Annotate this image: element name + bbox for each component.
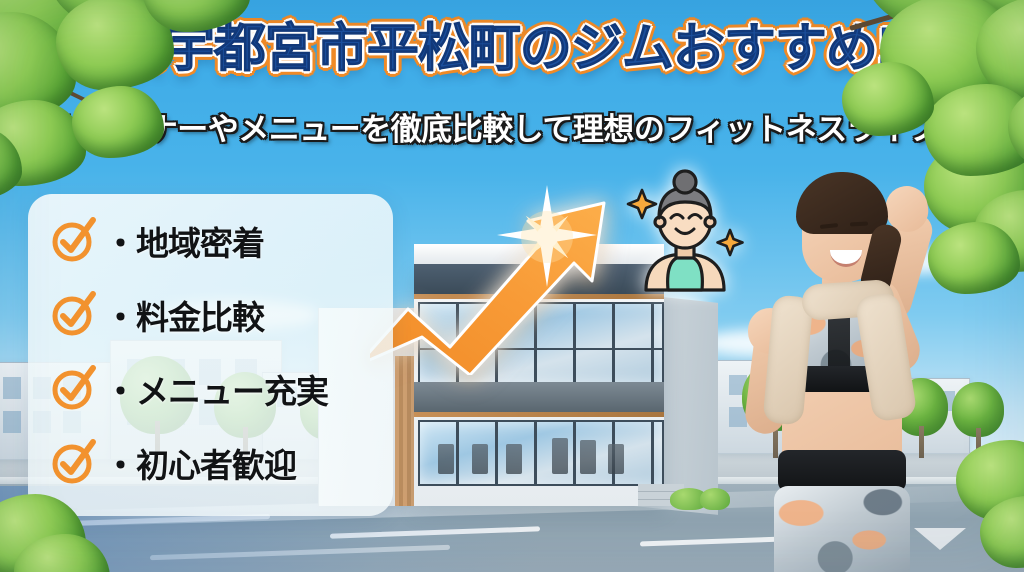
list-item-bullet: ・ bbox=[104, 365, 136, 413]
sparkle-star-icon bbox=[492, 182, 602, 292]
list-item-bullet: ・ bbox=[104, 439, 136, 487]
shrub bbox=[700, 488, 730, 510]
list-item: ・ メニュー充実 bbox=[28, 352, 393, 426]
building-glass-lower bbox=[418, 420, 664, 486]
page-subtitle: トレーナーやメニューを徹底比較して理想のフィットネスライフへ bbox=[55, 104, 968, 149]
check-circle-icon bbox=[50, 440, 96, 486]
check-circle-icon bbox=[50, 218, 96, 264]
list-item-label: 地域密着 bbox=[136, 217, 264, 265]
list-item: ・ 初心者歓迎 bbox=[28, 426, 393, 500]
list-item: ・ 料金比較 bbox=[28, 278, 393, 352]
list-item-label: 初心者歓迎 bbox=[136, 439, 296, 487]
check-circle-icon bbox=[50, 292, 96, 338]
list-item-label: 料金比較 bbox=[136, 291, 264, 339]
list-item-label: メニュー充実 bbox=[136, 365, 328, 413]
building-wood-trim bbox=[414, 412, 664, 417]
page-title: 栃木県宇都宮市平松町のジムおすすめ5選！ bbox=[10, 22, 1014, 77]
banner-image: 栃木県宇都宮市平松町のジムおすすめ5選！ トレーナーやメニューを徹底比較して理想… bbox=[0, 0, 1024, 572]
list-item-bullet: ・ bbox=[104, 217, 136, 265]
banner-subtitle-container: トレーナーやメニューを徹底比較して理想のフィットネスライフへ bbox=[0, 104, 1024, 149]
check-circle-icon bbox=[50, 366, 96, 412]
building-band-mid bbox=[414, 382, 664, 412]
banner-title-container: 栃木県宇都宮市平松町のジムおすすめ5選！ bbox=[0, 22, 1024, 77]
woman-trainer-emoji-icon bbox=[626, 168, 744, 294]
list-item-bullet: ・ bbox=[104, 291, 136, 339]
feature-list-card: ・ 地域密着 ・ 料金比較 ・ メニュー充実 bbox=[28, 194, 393, 516]
list-item: ・ 地域密着 bbox=[28, 204, 393, 278]
fitness-woman-photo bbox=[738, 150, 1024, 572]
